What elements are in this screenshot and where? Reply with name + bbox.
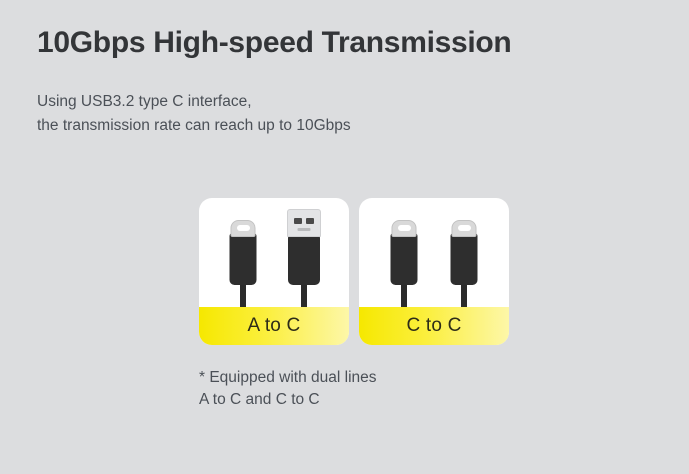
usb-a-mark bbox=[298, 228, 311, 231]
subtitle-line-1: Using USB3.2 type C interface, bbox=[37, 90, 351, 114]
cable-card-label: A to C bbox=[248, 315, 301, 337]
usb-c-tip bbox=[452, 220, 477, 237]
footnote-line-1: * Equipped with dual lines bbox=[199, 367, 377, 389]
cable-card-label: C to C bbox=[406, 315, 461, 337]
footnote-block: * Equipped with dual lines A to C and C … bbox=[199, 367, 377, 411]
connector-body bbox=[451, 233, 478, 285]
connector-body bbox=[391, 233, 418, 285]
connector-body bbox=[230, 233, 257, 285]
usb-a-contact-right bbox=[306, 218, 314, 224]
cable-card-band-c-to-c: C to C bbox=[359, 307, 509, 345]
usb-a-tip bbox=[287, 209, 321, 237]
cable-card-band-a-to-c: A to C bbox=[199, 307, 349, 345]
page-title: 10Gbps High-speed Transmission bbox=[37, 26, 511, 60]
subtitle-block: Using USB3.2 type C interface, the trans… bbox=[37, 90, 351, 138]
usb-c-tip bbox=[392, 220, 417, 237]
usb-c-tip bbox=[231, 220, 256, 237]
cable-illustration-a-to-c bbox=[199, 198, 349, 307]
subtitle-line-2: the transmission rate can reach up to 10… bbox=[37, 114, 351, 138]
cable-card-c-to-c[interactable]: C to C bbox=[359, 198, 509, 345]
cable-card-a-to-c[interactable]: A to C bbox=[199, 198, 349, 345]
connector-body bbox=[288, 235, 320, 285]
usb-a-contact-left bbox=[294, 218, 302, 224]
cable-card-row: A to C bbox=[199, 198, 509, 345]
footnote-line-2: A to C and C to C bbox=[199, 389, 377, 411]
promo-banner: 10Gbps High-speed Transmission Using USB… bbox=[0, 0, 689, 474]
cable-illustration-c-to-c bbox=[359, 198, 509, 307]
